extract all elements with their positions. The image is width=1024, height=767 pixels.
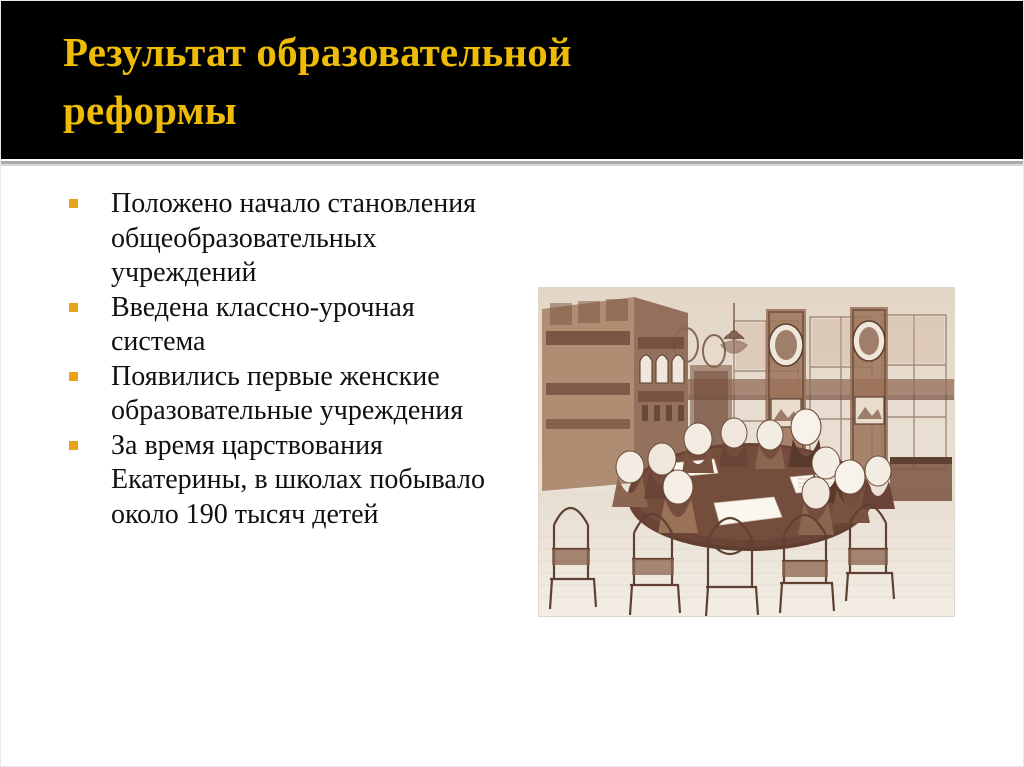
bullet-square-icon [69, 372, 78, 381]
list-item: Положено начало становления общеобразова… [61, 187, 511, 291]
header-divider-light [1, 164, 1024, 166]
bullet-square-icon [69, 199, 78, 208]
list-item: Введена классно-урочная система [61, 291, 511, 360]
list-item-label: Появились первые женские образовательные… [111, 360, 511, 429]
list-item-label: За время царствования Екатерины, в школа… [111, 429, 511, 533]
presentation-slide: Результат образовательной реформы Положе… [0, 0, 1024, 767]
historical-assembly-image [538, 287, 955, 617]
list-item-label: Положено начало становления общеобразова… [111, 187, 511, 291]
bullet-square-icon [69, 303, 78, 312]
bullet-list: Положено начало становления общеобразова… [61, 187, 511, 532]
list-item-label: Введена классно-урочная система [111, 291, 511, 360]
page-title: Результат образовательной реформы [63, 23, 963, 139]
list-item: За время царствования Екатерины, в школа… [61, 429, 511, 533]
list-item: Появились первые женские образовательные… [61, 360, 511, 429]
assembly-engraving-graphic [538, 287, 955, 617]
bullet-square-icon [69, 441, 78, 450]
